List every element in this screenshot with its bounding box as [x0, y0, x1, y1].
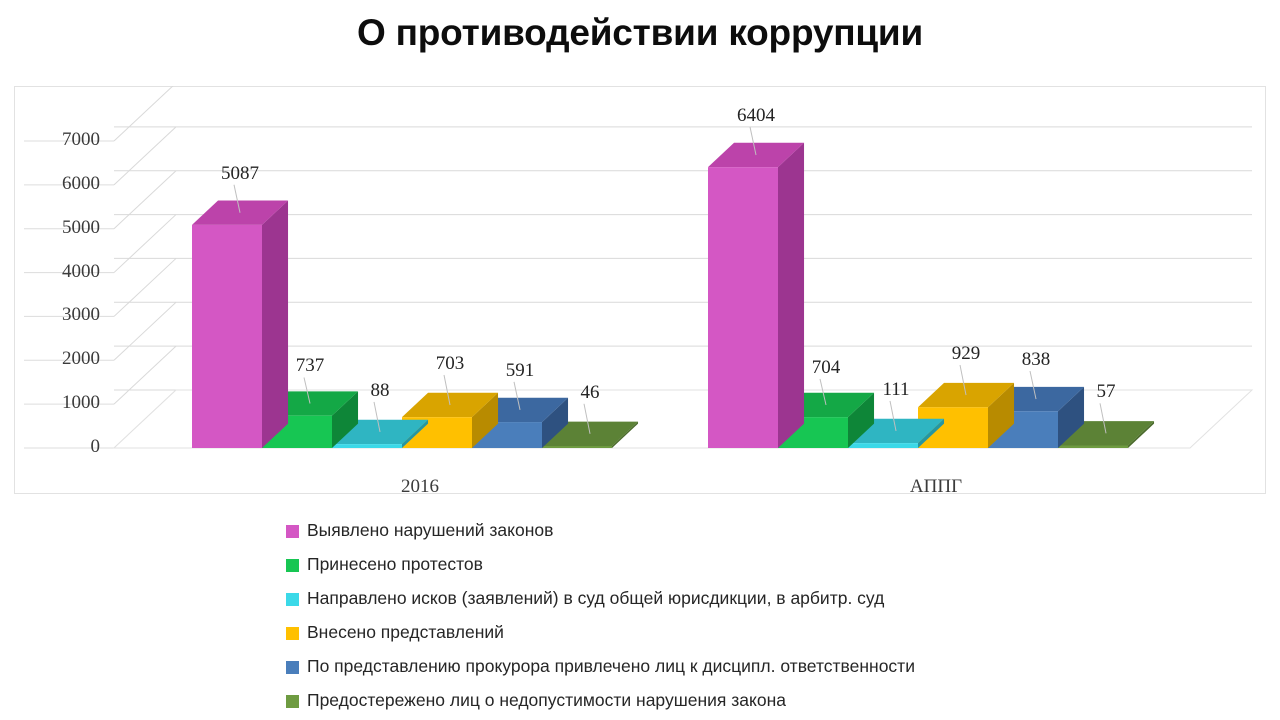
bar-1-1	[192, 201, 288, 448]
x-axis-label-2: АППГ	[856, 476, 1016, 498]
data-label: 5087	[194, 163, 286, 185]
chart-title: О противодействии коррупции	[0, 12, 1280, 54]
legend-label: Принесено протестов	[307, 556, 483, 574]
y-axis-tick-1000: 1000	[14, 392, 100, 414]
legend-label: Выявлено нарушений законов	[307, 522, 553, 540]
data-label: 111	[850, 379, 942, 401]
data-label: 737	[264, 355, 356, 377]
data-label: 88	[334, 380, 426, 402]
x-axis-label-1: 2016	[340, 476, 500, 498]
legend-label: Внесено представлений	[307, 624, 504, 642]
data-label: 57	[1060, 381, 1152, 403]
legend-label: По представлению прокурора привлечено ли…	[307, 658, 915, 676]
legend-swatch-icon	[286, 559, 299, 572]
y-axis-tick-5000: 5000	[14, 217, 100, 239]
bar-2-1	[708, 143, 804, 448]
legend-item-5[interactable]: По представлению прокурора привлечено ли…	[286, 650, 1266, 684]
y-axis-tick-2000: 2000	[14, 348, 100, 370]
legend-label: Направлено исков (заявлений) в суд общей…	[307, 590, 884, 608]
data-label: 704	[780, 357, 872, 379]
legend-swatch-icon	[286, 661, 299, 674]
data-label: 6404	[710, 105, 802, 127]
y-axis-tick-0: 0	[14, 436, 100, 458]
legend-item-2[interactable]: Принесено протестов	[286, 548, 1266, 582]
y-axis-tick-7000: 7000	[14, 129, 100, 151]
legend-item-4[interactable]: Внесено представлений	[286, 616, 1266, 650]
chart-page: О противодействии коррупции 700060005000…	[0, 0, 1280, 720]
legend-swatch-icon	[286, 525, 299, 538]
y-axis-tick-3000: 3000	[14, 304, 100, 326]
data-label: 703	[404, 353, 496, 375]
legend-swatch-icon	[286, 627, 299, 640]
y-axis-tick-6000: 6000	[14, 173, 100, 195]
legend-item-3[interactable]: Направлено исков (заявлений) в суд общей…	[286, 582, 1266, 616]
data-label: 929	[920, 343, 1012, 365]
y-axis-tick-4000: 4000	[14, 261, 100, 283]
legend-swatch-icon	[286, 695, 299, 708]
chart-legend: Выявлено нарушений законовПринесено прот…	[286, 514, 1266, 718]
legend-label: Предостережено лиц о недопустимости нару…	[307, 692, 786, 710]
legend-swatch-icon	[286, 593, 299, 606]
legend-item-6[interactable]: Предостережено лиц о недопустимости нару…	[286, 684, 1266, 718]
legend-item-1[interactable]: Выявлено нарушений законов	[286, 514, 1266, 548]
data-label: 46	[544, 382, 636, 404]
bar-chart-plot	[14, 86, 1266, 494]
